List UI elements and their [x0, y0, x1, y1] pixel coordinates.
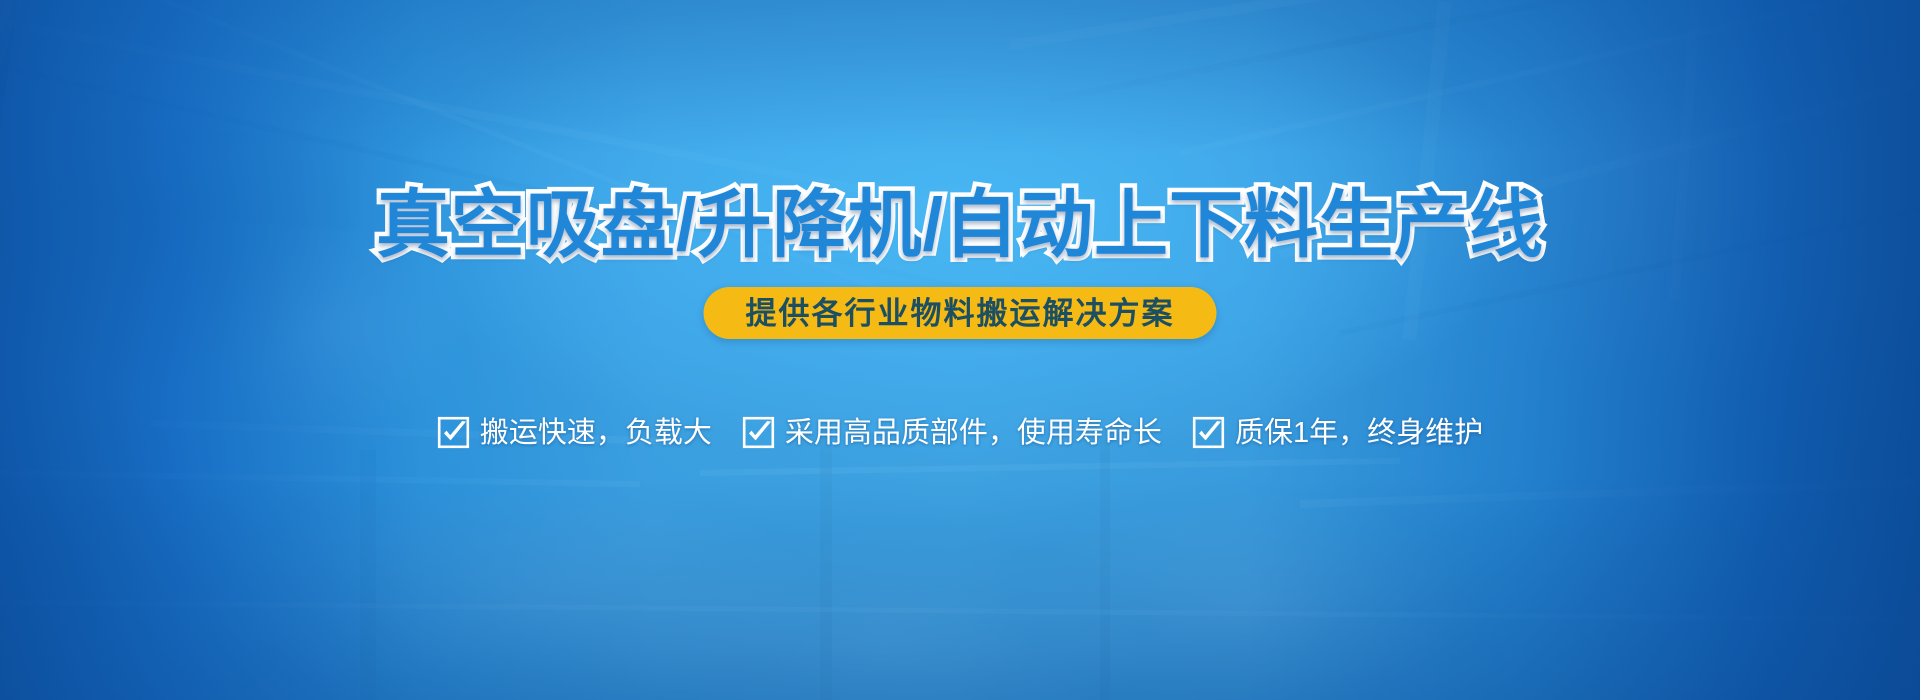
subtitle-pill-text: 提供各行业物料搬运解决方案 [746, 298, 1175, 329]
feature-item: 采用高品质部件，使用寿命长 [742, 416, 1162, 449]
promo-banner: 真空吸盘/升降机/自动上下料生产线 提供各行业物料搬运解决方案 搬运快速，负载大 [0, 0, 1920, 700]
feature-list: 搬运快速，负载大 采用高品质部件，使用寿命长 [0, 416, 1920, 449]
subtitle-pill: 提供各行业物料搬运解决方案 [704, 287, 1217, 339]
feature-item: 搬运快速，负载大 [437, 416, 712, 449]
feature-item-label: 搬运快速，负载大 [480, 418, 712, 448]
feature-item-label: 质保1年，终身维护 [1235, 418, 1483, 448]
check-box-icon [437, 416, 470, 449]
check-box-icon [742, 416, 775, 449]
banner-content: 真空吸盘/升降机/自动上下料生产线 提供各行业物料搬运解决方案 搬运快速，负载大 [0, 0, 1920, 700]
feature-item-label: 采用高品质部件，使用寿命长 [785, 418, 1162, 448]
banner-headline: 真空吸盘/升降机/自动上下料生产线 [0, 183, 1920, 267]
feature-item: 质保1年，终身维护 [1192, 416, 1483, 449]
check-box-icon [1192, 416, 1225, 449]
